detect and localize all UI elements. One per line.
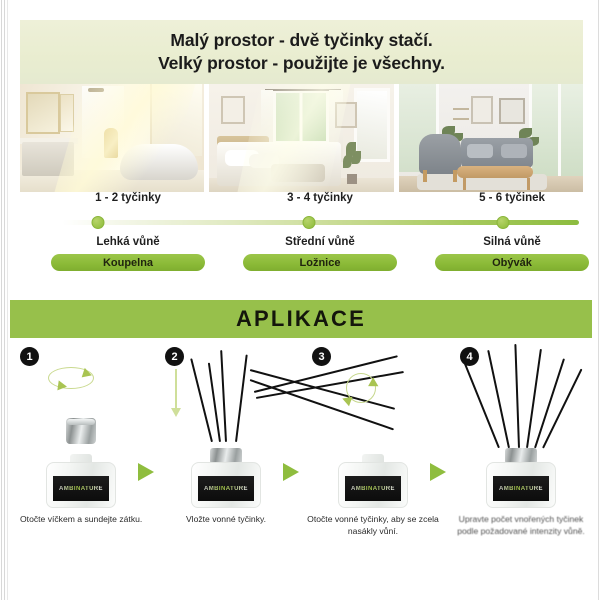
room-pill-obyvak[interactable]: Obývák [435, 254, 589, 271]
insert-down-arrow-icon [175, 369, 177, 409]
reed-stick [487, 350, 509, 448]
step-arrow-icon-2 [283, 463, 299, 481]
bedroom-photo [209, 84, 393, 192]
bottle-label-text: AMBINATURE [499, 486, 543, 492]
diffuser-bottle-2: AMBINATURE [191, 450, 261, 508]
scan-edge-line-right [598, 0, 599, 600]
rotate-arrow-head-icon [341, 394, 353, 406]
living-room-photo [399, 84, 583, 192]
step-number-badge-2: 2 [165, 347, 184, 366]
diffuser-bottle-3: AMBINATURE [338, 450, 408, 508]
scale-count-1: 1 - 2 tyčinky [95, 192, 161, 204]
step-arrow-icon-1 [138, 463, 154, 481]
room-photo-strip [20, 84, 583, 192]
bathroom-photo [20, 84, 204, 192]
scale-dot-2 [303, 216, 316, 229]
diffuser-bottle-1: AMBINATURE [46, 450, 116, 508]
rotate-arrow-head-icon [57, 380, 67, 391]
step-number-badge-1: 1 [20, 347, 39, 366]
headline-line-2: Velký prostor - použijte je všechny. [158, 52, 445, 75]
diffuser-bottle-4: AMBINATURE [486, 450, 556, 508]
step-caption-3: Otočte vonné tyčinky, aby se zcela nasák… [304, 513, 442, 538]
reed-stick [514, 344, 519, 448]
step-arrow-icon-3 [430, 463, 446, 481]
step-caption-4: Upravte počet vnořených tyčinek podle po… [452, 513, 590, 538]
bottle-cap [66, 418, 96, 444]
step-4: 4 AMBINATURE Upravte počet vnořených tyč… [450, 345, 592, 560]
scale-intensity-2: Střední vůně [285, 236, 355, 248]
infographic-page: Malý prostor - dvě tyčinky stačí. Velký … [0, 0, 600, 600]
stick-count-scale: 1 - 2 tyčinky 3 - 4 tyčinky 5 - 6 tyčine… [20, 192, 583, 282]
room-pill-loznice[interactable]: Ložnice [243, 254, 397, 271]
bottle-label-text: AMBINATURE [351, 486, 395, 492]
room-pill-koupelna[interactable]: Koupelna [51, 254, 205, 271]
step-3: 3 AMBINATURE Otočte vonné tyčinky, aby s… [302, 345, 444, 560]
application-steps: 1 AMBINATURE Otočte víčkem a sundejte zá… [10, 345, 592, 560]
scale-count-3: 5 - 6 tyčinek [479, 192, 545, 204]
bottle-label-text: AMBINATURE [59, 486, 103, 492]
scale-intensity-3: Silná vůně [483, 236, 541, 248]
usage-guide-panel: Malý prostor - dvě tyčinky stačí. Velký … [10, 0, 592, 288]
aplikace-title: APLIKACE [236, 306, 366, 332]
scan-edge-line [1, 0, 2, 600]
step-1: 1 AMBINATURE Otočte víčkem a sundejte zá… [10, 345, 152, 560]
scale-count-2: 3 - 4 tyčinky [287, 192, 353, 204]
reed-stick [235, 355, 247, 443]
headline-band: Malý prostor - dvě tyčinky stačí. Velký … [20, 20, 583, 84]
headline-line-1: Malý prostor - dvě tyčinky stačí. [170, 29, 432, 52]
scale-intensity-1: Lehká vůně [96, 236, 159, 248]
bottle-label-text: AMBINATURE [204, 486, 248, 492]
scale-dot-3 [497, 216, 510, 229]
step-caption-1: Otočte víčkem a sundejte zátku. [12, 513, 150, 525]
scan-edge-line [4, 0, 5, 600]
scale-dot-1 [92, 216, 105, 229]
reed-stick [220, 350, 226, 442]
aplikace-title-band: APLIKACE [10, 300, 592, 338]
scan-edge-line [7, 0, 8, 600]
reed-stick [462, 359, 499, 449]
step-caption-2: Vložte vonné tyčinky. [157, 513, 295, 525]
step-number-badge-3: 3 [312, 347, 331, 366]
